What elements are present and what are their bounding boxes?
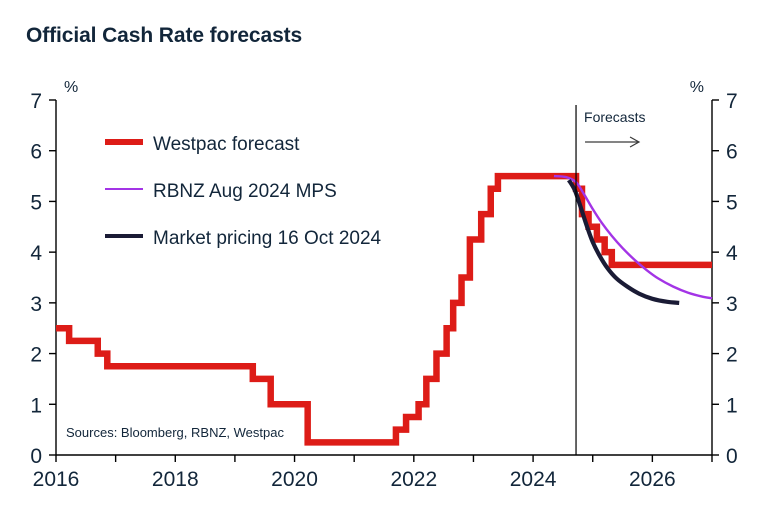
series-layer — [56, 176, 712, 442]
legend-label-0: Westpac forecast — [153, 134, 300, 155]
y-tick-label-left: 2 — [30, 344, 42, 367]
x-tick-label: 2026 — [629, 468, 676, 491]
y-tick-label-left: 6 — [30, 141, 42, 164]
y-tick-label-right: 2 — [726, 344, 738, 367]
forecast-label: Forecasts — [584, 109, 645, 125]
series-line-westpac-forecast — [56, 176, 712, 442]
y-tick-label-right: 4 — [726, 242, 738, 265]
y-tick-label-left: 5 — [30, 191, 42, 214]
x-tick-label: 2018 — [152, 468, 199, 491]
x-tick-label: 2020 — [271, 468, 318, 491]
y-tick-label-right: 5 — [726, 191, 738, 214]
chart-container: Official Cash Rate forecasts 00112233445… — [0, 0, 768, 524]
y-tick-label-left: 0 — [30, 445, 42, 468]
y-tick-label-right: 1 — [726, 394, 738, 417]
y-tick-label-left: 1 — [30, 394, 42, 417]
legend-label-2: Market pricing 16 Oct 2024 — [153, 228, 382, 249]
y-tick-label-right: 3 — [726, 293, 738, 316]
y-tick-label-right: 0 — [726, 445, 738, 468]
y-tick-label-right: 6 — [726, 141, 738, 164]
x-tick-label: 2016 — [33, 468, 80, 491]
x-tick-label: 2022 — [390, 468, 437, 491]
legend-label-1: RBNZ Aug 2024 MPS — [153, 181, 337, 202]
ocr-forecast-chart: 0011223344556677201620182020202220242026… — [0, 0, 768, 524]
y-tick-label-right: 7 — [726, 90, 738, 113]
legend-layer: Westpac forecastRBNZ Aug 2024 MPSMarket … — [105, 134, 382, 249]
annotation-layer: ForecastsSources: Bloomberg, RBNZ, Westp… — [66, 105, 645, 455]
x-tick-label: 2024 — [510, 468, 557, 491]
y-tick-label-left: 7 — [30, 90, 42, 113]
y-tick-label-left: 4 — [30, 242, 42, 265]
source-note: Sources: Bloomberg, RBNZ, Westpac — [66, 425, 284, 440]
unit-label-right: % — [690, 79, 704, 96]
unit-label-left: % — [64, 79, 78, 96]
y-tick-label-left: 3 — [30, 293, 42, 316]
